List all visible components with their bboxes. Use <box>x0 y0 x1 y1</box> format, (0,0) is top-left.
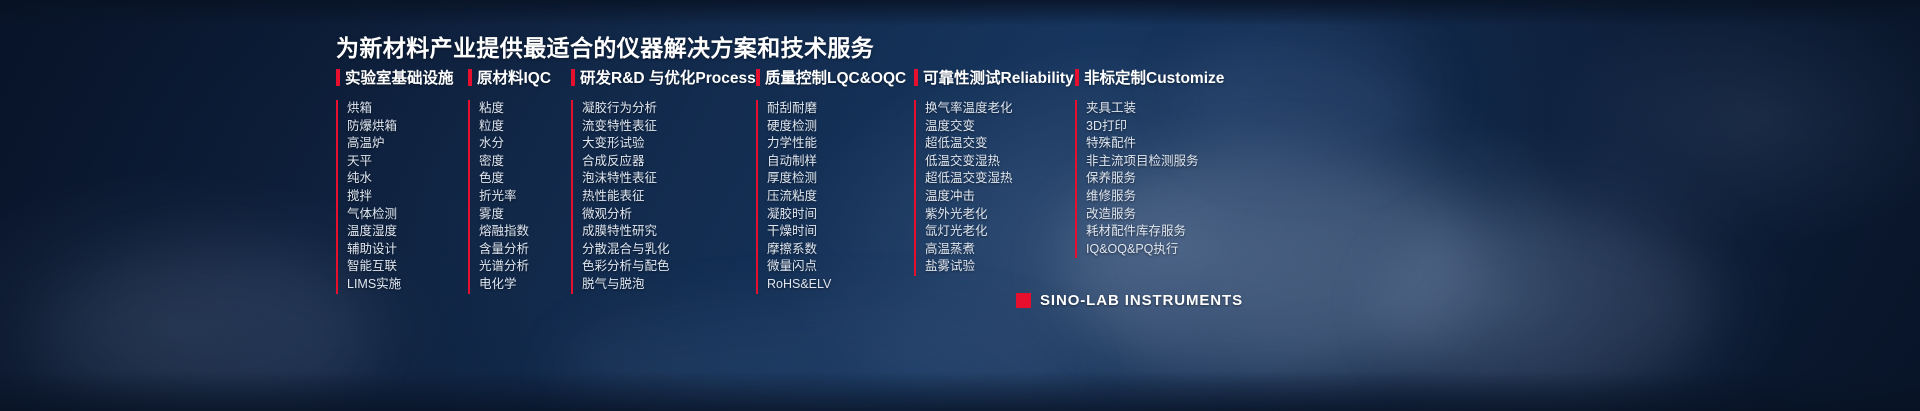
list-item[interactable]: 粒度 <box>479 118 529 136</box>
list-item[interactable]: 辅助设计 <box>347 241 401 259</box>
category-item-list: 烘箱防爆烘箱高温炉天平纯水搅拌气体检测温度湿度辅助设计智能互联LIMS实施 <box>336 100 468 294</box>
list-item[interactable]: RoHS&ELV <box>767 276 831 294</box>
page-title: 为新材料产业提供最适合的仪器解决方案和技术服务 <box>336 29 874 63</box>
item-container: 换气率温度老化温度交变超低温交变低温交变湿热超低温交变湿热温度冲击紫外光老化氙灯… <box>925 100 1013 276</box>
list-item[interactable]: 高温炉 <box>347 135 401 153</box>
list-item[interactable]: 脱气与脱泡 <box>582 276 670 294</box>
list-item[interactable]: 微量闪点 <box>767 258 831 276</box>
category-item-list: 粘度粒度水分密度色度折光率雾度熔融指数含量分析光谱分析电化学 <box>468 100 571 294</box>
accent-bar-icon <box>914 69 918 86</box>
list-accent-rule <box>468 100 470 294</box>
list-item[interactable]: IQ&OQ&PQ执行 <box>1086 241 1199 259</box>
list-item[interactable]: 耗材配件库存服务 <box>1086 223 1199 241</box>
list-item[interactable]: 氙灯光老化 <box>925 223 1013 241</box>
list-item[interactable]: 光谱分析 <box>479 258 529 276</box>
list-item[interactable]: 智能互联 <box>347 258 401 276</box>
list-item[interactable]: 电化学 <box>479 276 529 294</box>
accent-bar-icon <box>1075 69 1079 86</box>
item-container: 夹具工装3D打印特殊配件非主流项目检测服务保养服务维修服务改造服务耗材配件库存服… <box>1086 100 1199 258</box>
list-accent-rule <box>914 100 916 276</box>
category-item-list: 换气率温度老化温度交变超低温交变低温交变湿热超低温交变湿热温度冲击紫外光老化氙灯… <box>914 100 1075 276</box>
logo-text: SINO-LAB INSTRUMENTS <box>1040 292 1243 309</box>
list-item[interactable]: 超低温交变湿热 <box>925 170 1013 188</box>
list-item[interactable]: 密度 <box>479 153 529 171</box>
list-item[interactable]: 天平 <box>347 153 401 171</box>
accent-bar-icon <box>468 69 472 86</box>
category-header-label: 可靠性测试Reliability <box>923 66 1074 88</box>
list-item[interactable]: 非主流项目检测服务 <box>1086 153 1199 171</box>
list-item[interactable]: 自动制样 <box>767 153 831 171</box>
service-category-column: 可靠性测试Reliability换气率温度老化温度交变超低温交变低温交变湿热超低… <box>914 66 1075 294</box>
list-item[interactable]: 特殊配件 <box>1086 135 1199 153</box>
list-item[interactable]: 泡沫特性表征 <box>582 170 670 188</box>
category-header[interactable]: 非标定制Customize <box>1075 66 1235 88</box>
list-item[interactable]: 大变形试验 <box>582 135 670 153</box>
list-item[interactable]: 温度湿度 <box>347 223 401 241</box>
list-accent-rule <box>571 100 573 294</box>
list-item[interactable]: 纯水 <box>347 170 401 188</box>
list-accent-rule <box>756 100 758 294</box>
list-item[interactable]: 成膜特性研究 <box>582 223 670 241</box>
list-item[interactable]: 硬度检测 <box>767 118 831 136</box>
list-item[interactable]: 色度 <box>479 170 529 188</box>
service-category-columns: 实验室基础设施烘箱防爆烘箱高温炉天平纯水搅拌气体检测温度湿度辅助设计智能互联LI… <box>336 66 1896 294</box>
service-category-column: 质量控制LQC&OQC耐刮耐磨硬度检测力学性能自动制样厚度检测压流粘度凝胶时间干… <box>756 66 914 294</box>
category-item-list: 夹具工装3D打印特殊配件非主流项目检测服务保养服务维修服务改造服务耗材配件库存服… <box>1075 100 1235 258</box>
list-item[interactable]: 微观分析 <box>582 206 670 224</box>
list-accent-rule <box>336 100 338 294</box>
category-header[interactable]: 研发R&D 与优化Process <box>571 66 756 88</box>
list-item[interactable]: 含量分析 <box>479 241 529 259</box>
brand-logo: SINO-LAB INSTRUMENTS <box>1016 292 1243 309</box>
category-header-label: 实验室基础设施 <box>345 66 454 88</box>
list-item[interactable]: 色彩分析与配色 <box>582 258 670 276</box>
category-header-label: 非标定制Customize <box>1084 66 1224 88</box>
list-item[interactable]: 热性能表征 <box>582 188 670 206</box>
list-item[interactable]: 耐刮耐磨 <box>767 100 831 118</box>
item-container: 耐刮耐磨硬度检测力学性能自动制样厚度检测压流粘度凝胶时间干燥时间摩擦系数微量闪点… <box>767 100 831 294</box>
list-item[interactable]: 防爆烘箱 <box>347 118 401 136</box>
list-item[interactable]: 摩擦系数 <box>767 241 831 259</box>
list-accent-rule <box>1075 100 1077 258</box>
service-category-column: 实验室基础设施烘箱防爆烘箱高温炉天平纯水搅拌气体检测温度湿度辅助设计智能互联LI… <box>336 66 468 294</box>
banner-content: 为新材料产业提供最适合的仪器解决方案和技术服务 实验室基础设施烘箱防爆烘箱高温炉… <box>0 0 1920 411</box>
list-item[interactable]: 分散混合与乳化 <box>582 241 670 259</box>
category-header[interactable]: 质量控制LQC&OQC <box>756 66 914 88</box>
list-item[interactable]: 紫外光老化 <box>925 206 1013 224</box>
list-item[interactable]: 熔融指数 <box>479 223 529 241</box>
category-item-list: 耐刮耐磨硬度检测力学性能自动制样厚度检测压流粘度凝胶时间干燥时间摩擦系数微量闪点… <box>756 100 914 294</box>
category-header[interactable]: 实验室基础设施 <box>336 66 468 88</box>
list-item[interactable]: 气体检测 <box>347 206 401 224</box>
item-container: 粘度粒度水分密度色度折光率雾度熔融指数含量分析光谱分析电化学 <box>479 100 529 294</box>
list-item[interactable]: 搅拌 <box>347 188 401 206</box>
accent-bar-icon <box>336 69 340 86</box>
category-item-list: 凝胶行为分析流变特性表征大变形试验合成反应器泡沫特性表征热性能表征微观分析成膜特… <box>571 100 756 294</box>
category-header-label: 质量控制LQC&OQC <box>765 66 906 88</box>
item-container: 凝胶行为分析流变特性表征大变形试验合成反应器泡沫特性表征热性能表征微观分析成膜特… <box>582 100 670 294</box>
list-item[interactable]: 力学性能 <box>767 135 831 153</box>
list-item[interactable]: 合成反应器 <box>582 153 670 171</box>
promo-banner: 为新材料产业提供最适合的仪器解决方案和技术服务 实验室基础设施烘箱防爆烘箱高温炉… <box>0 0 1920 411</box>
list-item[interactable]: 厚度检测 <box>767 170 831 188</box>
list-item[interactable]: 粘度 <box>479 100 529 118</box>
list-item[interactable]: 干燥时间 <box>767 223 831 241</box>
category-header-label: 研发R&D 与优化Process <box>580 66 756 88</box>
list-item[interactable]: 超低温交变 <box>925 135 1013 153</box>
list-item[interactable]: 换气率温度老化 <box>925 100 1013 118</box>
list-item[interactable]: 凝胶行为分析 <box>582 100 670 118</box>
item-container: 烘箱防爆烘箱高温炉天平纯水搅拌气体检测温度湿度辅助设计智能互联LIMS实施 <box>347 100 401 294</box>
list-item[interactable]: 高温蒸煮 <box>925 241 1013 259</box>
list-item[interactable]: 水分 <box>479 135 529 153</box>
category-header[interactable]: 原材料IQC <box>468 66 571 88</box>
list-item[interactable]: 凝胶时间 <box>767 206 831 224</box>
service-category-column: 研发R&D 与优化Process凝胶行为分析流变特性表征大变形试验合成反应器泡沫… <box>571 66 756 294</box>
list-item[interactable]: 改造服务 <box>1086 206 1199 224</box>
service-category-column: 原材料IQC粘度粒度水分密度色度折光率雾度熔融指数含量分析光谱分析电化学 <box>468 66 571 294</box>
list-item[interactable]: 压流粘度 <box>767 188 831 206</box>
list-item[interactable]: 盐雾试验 <box>925 258 1013 276</box>
list-item[interactable]: 低温交变湿热 <box>925 153 1013 171</box>
list-item[interactable]: 3D打印 <box>1086 118 1199 136</box>
logo-square-icon <box>1016 293 1031 308</box>
service-category-column: 非标定制Customize夹具工装3D打印特殊配件非主流项目检测服务保养服务维修… <box>1075 66 1235 294</box>
list-item[interactable]: 流变特性表征 <box>582 118 670 136</box>
category-header[interactable]: 可靠性测试Reliability <box>914 66 1075 88</box>
list-item[interactable]: 折光率 <box>479 188 529 206</box>
list-item[interactable]: 雾度 <box>479 206 529 224</box>
list-item[interactable]: 温度冲击 <box>925 188 1013 206</box>
list-item[interactable]: 温度交变 <box>925 118 1013 136</box>
accent-bar-icon <box>571 69 575 86</box>
list-item[interactable]: LIMS实施 <box>347 276 401 294</box>
list-item[interactable]: 保养服务 <box>1086 170 1199 188</box>
list-item[interactable]: 烘箱 <box>347 100 401 118</box>
category-header-label: 原材料IQC <box>477 66 551 88</box>
list-item[interactable]: 夹具工装 <box>1086 100 1199 118</box>
accent-bar-icon <box>756 69 760 86</box>
list-item[interactable]: 维修服务 <box>1086 188 1199 206</box>
